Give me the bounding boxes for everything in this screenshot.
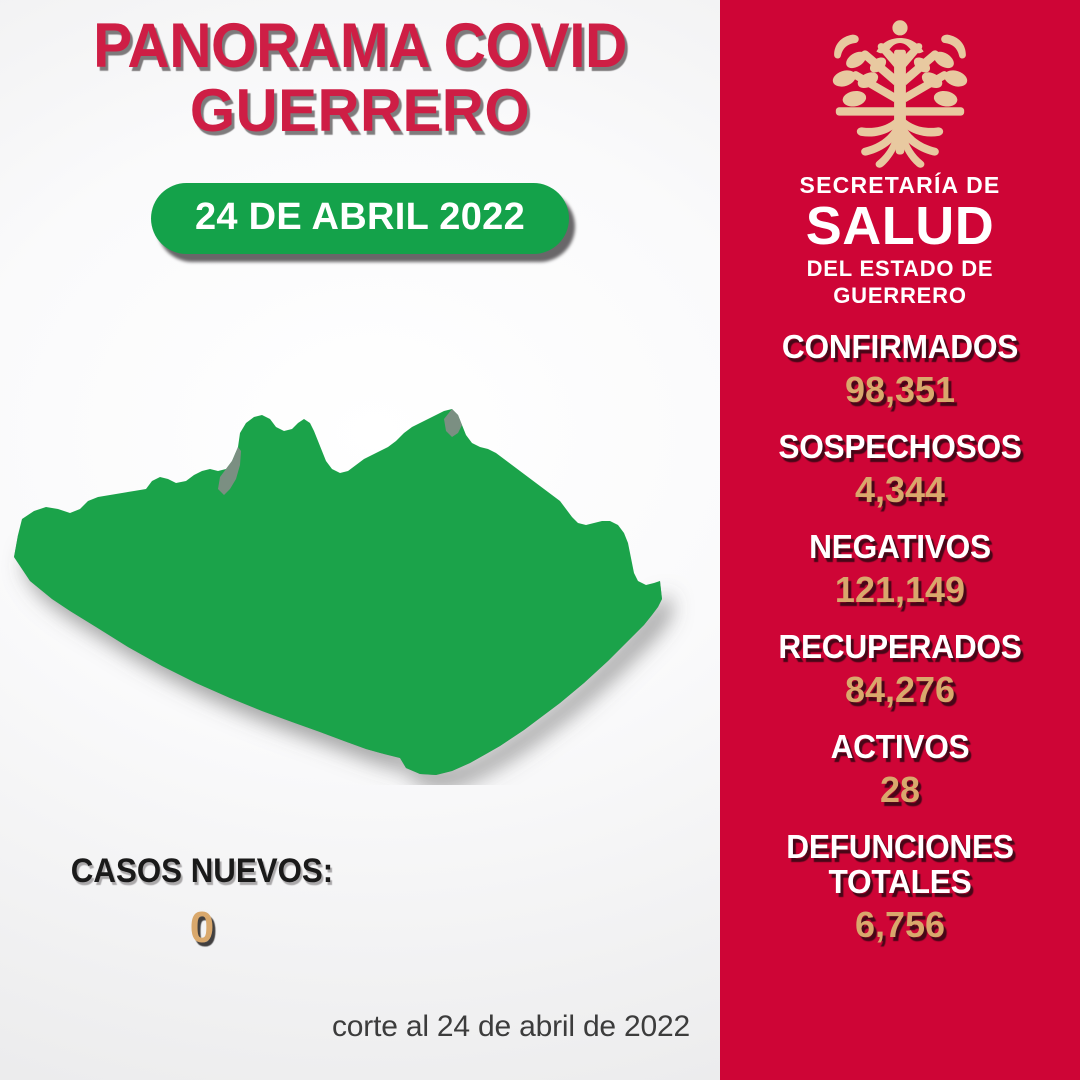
new-cases-block: CASOS NUEVOS: 0 [42,852,362,953]
stat-sospechosos: SOSPECHOSOS 4,344 [720,430,1080,511]
brand-line-salud: SALUD [800,199,1001,253]
date-pill-container: 24 DE ABRIL 2022 [0,183,720,254]
cutoff-note: corte al 24 de abril de 2022 [0,1010,690,1044]
new-cases-value: 0 [42,903,362,953]
covid-panorama-infographic: PANORAMA COVID GUERRERO 24 DE ABRIL 2022 [0,0,1080,1080]
title-block: PANORAMA COVID GUERRERO [0,14,720,141]
stat-activos: ACTIVOS 28 [720,730,1080,811]
new-cases-label: CASOS NUEVOS: [55,852,349,891]
stat-label: SOSPECHOSOS [727,430,1073,465]
stat-value: 6,756 [720,904,1080,946]
stat-confirmados: CONFIRMADOS 98,351 [720,330,1080,411]
brand-lockup: SECRETARÍA DE SALUD DEL ESTADO DE GUERRE… [800,172,1001,309]
brand-line-del-estado: DEL ESTADO DE [800,256,1001,282]
stat-value: 121,149 [720,569,1080,611]
page-subtitle: GUERRERO [11,80,709,141]
stat-label: CONFIRMADOS [727,330,1073,365]
stat-value: 28 [720,769,1080,811]
stat-value: 4,344 [720,469,1080,511]
map-top-face [14,409,662,775]
stat-label: RECUPERADOS [727,630,1073,665]
left-content-panel: PANORAMA COVID GUERRERO 24 DE ABRIL 2022 [0,0,720,1080]
guerrero-map-svg [0,385,720,785]
brand-line-secretaria: SECRETARÍA DE [800,172,1001,198]
stat-label: NEGATIVOS [727,530,1073,565]
stats-panel: SECRETARÍA DE SALUD DEL ESTADO DE GUERRE… [720,0,1080,1080]
stats-list: CONFIRMADOS 98,351 SOSPECHOSOS 4,344 NEG… [720,330,1080,946]
report-date-badge: 24 DE ABRIL 2022 [151,183,569,254]
stat-defunciones-totales: DEFUNCIONES TOTALES 6,756 [720,830,1080,946]
stat-label: DEFUNCIONES TOTALES [727,830,1073,900]
stat-label: ACTIVOS [727,730,1073,765]
stat-value: 84,276 [720,669,1080,711]
page-title: PANORAMA COVID [25,14,695,78]
guerrero-map [0,385,720,785]
stat-negativos: NEGATIVOS 121,149 [720,530,1080,611]
brand-line-guerrero: GUERRERO [800,283,1001,309]
stat-recuperados: RECUPERADOS 84,276 [720,630,1080,711]
stat-value: 98,351 [720,369,1080,411]
tree-of-life-icon [815,16,985,168]
